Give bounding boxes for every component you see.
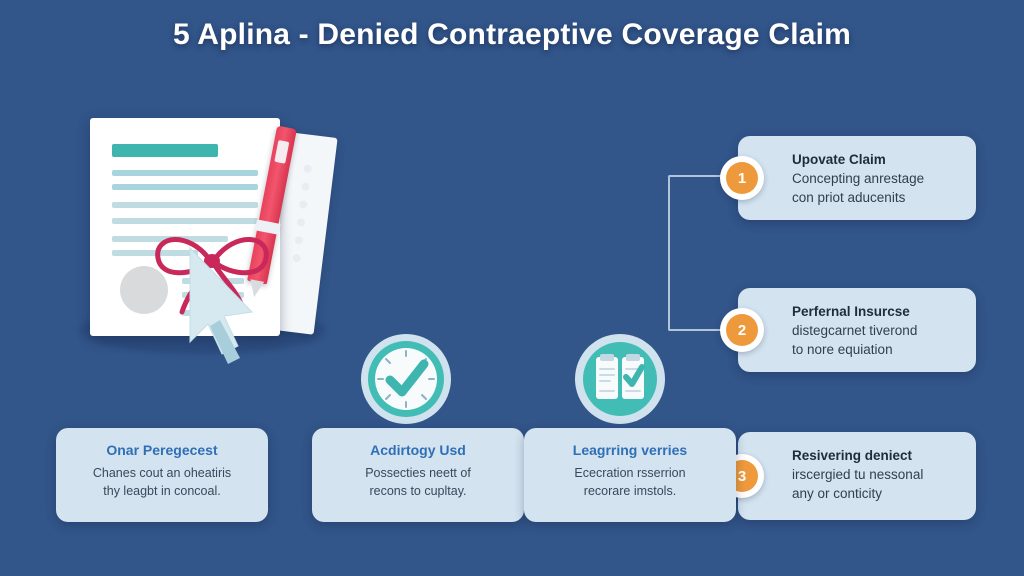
step-line3-2: to nore equiation — [792, 342, 893, 357]
feature-line2-1: Chanes cout an oheatiris — [93, 466, 231, 480]
feature-body-3: Ececration rsserrion recorare imstols. — [536, 464, 724, 500]
page-title: 5 Aplina - Denied Contraeptive Coverage … — [0, 18, 1024, 52]
step-title-1: Upovate Claim — [792, 152, 886, 167]
documents-check-icon — [574, 333, 666, 425]
step-card-1-body: Upovate Claim Concepting anrestage con p… — [792, 150, 964, 207]
infographic-canvas: 5 Aplina - Denied Contraeptive Coverage … — [0, 0, 1024, 576]
feature-heading-2: Acdirtogy Usd — [324, 442, 512, 458]
feature-card-2[interactable]: Acdirtogy Usd Possecties neett of recons… — [312, 428, 524, 522]
step-card-1[interactable]: 1 Upovate Claim Concepting anrestage con… — [738, 136, 976, 220]
clock-check-icon — [360, 333, 452, 425]
hero-illustration — [72, 108, 334, 366]
feature-card-3[interactable]: Leagrring verries Ececration rsserrion r… — [524, 428, 736, 522]
feature-line2-2: Possecties neett of — [365, 466, 471, 480]
feature-card-1[interactable]: Onar Peregecest Chanes cout an oheatiris… — [56, 428, 268, 522]
step-number-badge-1: 1 — [720, 156, 764, 200]
step-card-2[interactable]: 2 Perfernal Insurcse distegcarnet tivero… — [738, 288, 976, 372]
feature-line3-2: recons to cupltay. — [369, 484, 466, 498]
step-number-1: 1 — [726, 162, 758, 194]
step-number-2: 2 — [726, 314, 758, 346]
feature-line2-3: Ececration rsserrion — [574, 466, 685, 480]
step-card-3-body: Resivering deniect irscergied tu nessona… — [792, 446, 964, 503]
step-number-badge-2: 2 — [720, 308, 764, 352]
feature-body-1: Chanes cout an oheatiris thy leagbt in c… — [68, 464, 256, 500]
feature-line3-1: thy leagbt in concoal. — [103, 484, 220, 498]
feature-heading-3: Leagrring verries — [536, 442, 724, 458]
step-line2-1: Concepting anrestage — [792, 171, 924, 186]
step-line2-3: irscergied tu nessonal — [792, 467, 923, 482]
feature-line3-3: recorare imstols. — [584, 484, 676, 498]
step-card-3[interactable]: 3 Resivering deniect irscergied tu nesso… — [738, 432, 976, 520]
step-title-2: Perfernal Insurcse — [792, 304, 910, 319]
cursor-arrow-icon — [182, 246, 260, 364]
step-line2-2: distegcarnet tiverond — [792, 323, 917, 338]
feature-heading-1: Onar Peregecest — [68, 442, 256, 458]
step-line3-1: con priot aducenits — [792, 190, 905, 205]
step-line3-3: any or conticity — [792, 486, 882, 501]
feature-body-2: Possecties neett of recons to cupltay. — [324, 464, 512, 500]
step-title-3: Resivering deniect — [792, 448, 912, 463]
step-card-2-body: Perfernal Insurcse distegcarnet tiverond… — [792, 302, 964, 359]
